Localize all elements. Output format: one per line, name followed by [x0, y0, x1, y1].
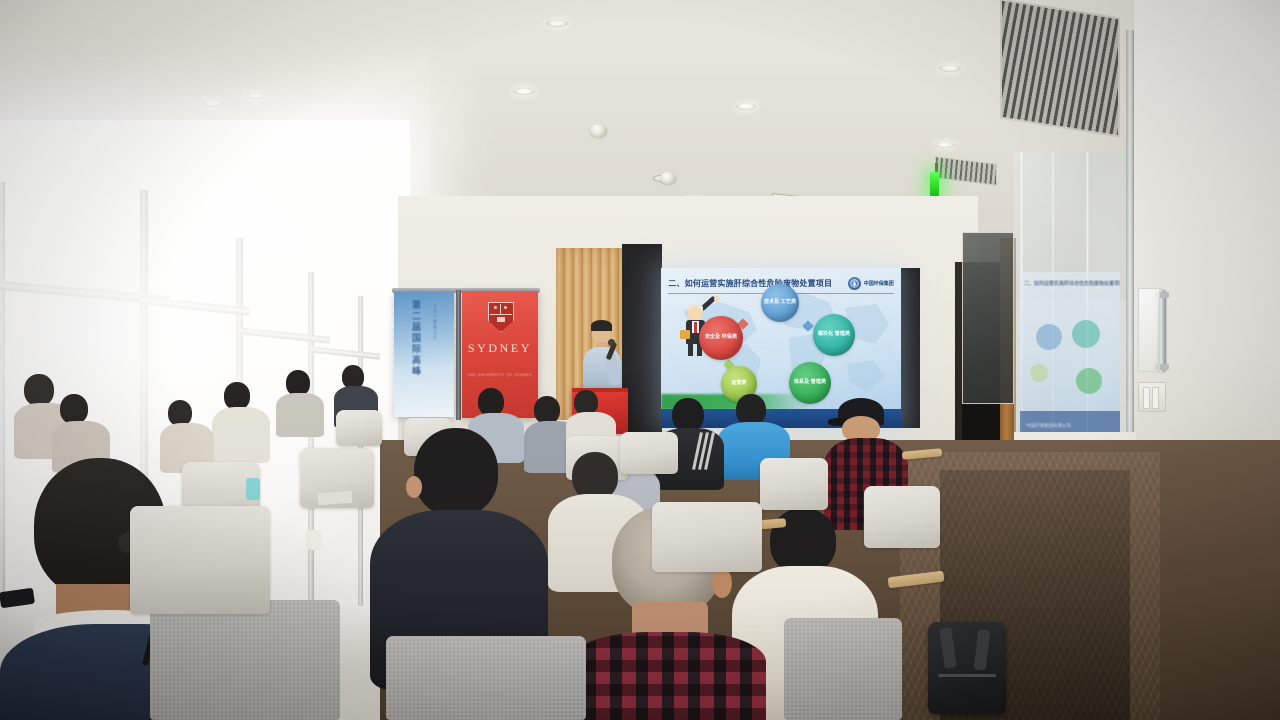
air-vent-grille — [1000, 0, 1120, 138]
window-transom — [310, 346, 380, 359]
window-transom — [140, 296, 250, 315]
water-bottle — [246, 478, 260, 500]
reflected-footer-text: 中国环保集团有限公司 — [1026, 423, 1071, 429]
recessed-downlight — [246, 93, 266, 99]
sydney-wordmark-wrap: SYDNEY — [462, 339, 538, 357]
crest-star — [494, 306, 497, 309]
reflected-slide-title: 二、如何运营实施肝综合性危险废物处置项目 — [1024, 280, 1120, 287]
mesh-back-seminar-chair[interactable] — [652, 502, 762, 572]
recessed-downlight — [202, 100, 224, 107]
blue-banner-sub-text: 环境与健康论坛 — [432, 304, 438, 340]
switch-key[interactable] — [1152, 387, 1159, 409]
mesh-back-seminar-chair[interactable] — [784, 618, 902, 720]
blue-banner: 第二届国际高峰 环境与健康论坛 — [394, 292, 454, 417]
recessed-downlight — [736, 103, 756, 110]
window-mullion — [308, 272, 314, 612]
slide-bubble-label: 体系及 管理类 — [794, 380, 826, 385]
torso — [570, 632, 766, 720]
cartoon-tie — [694, 322, 697, 333]
cartoon-leg — [688, 342, 693, 356]
sydney-subtext-wrap: THE UNIVERSITY OF SYDNEY — [462, 363, 538, 381]
audience-member — [52, 394, 108, 468]
backpack-strap — [974, 629, 991, 670]
sydney-wordmark: SYDNEY — [468, 341, 532, 355]
notebook — [318, 491, 353, 505]
ear — [406, 476, 422, 498]
slide-bubble-label: 运营类 — [731, 381, 746, 386]
slide-bubble: 模块化 管理类 — [813, 314, 855, 356]
blue-banner-main-text: 第二届国际高峰 — [410, 300, 423, 377]
head — [672, 398, 704, 432]
torso — [276, 393, 324, 437]
recessed-downlight — [939, 65, 961, 72]
reflected-bubble — [1076, 368, 1102, 394]
reflected-bubble — [1072, 320, 1100, 348]
wall-light-switch[interactable] — [1138, 382, 1166, 412]
wall-artwork — [962, 232, 1014, 404]
mesh-back-seminar-chair[interactable] — [130, 506, 270, 614]
ear — [712, 568, 732, 598]
audience-member — [276, 370, 324, 436]
screen-reflection: 二、如何运营实施肝综合性危险废物处置项目 中国环保集团有限公司 — [1020, 272, 1120, 434]
reflected-bubble — [1036, 324, 1062, 350]
backpack-strap — [939, 627, 956, 668]
crest-book — [497, 317, 505, 322]
org-logo-icon — [848, 277, 861, 290]
head — [60, 394, 88, 424]
recessed-downlight — [935, 142, 955, 148]
cartoon-hand — [714, 296, 720, 302]
org-logo-label: 中国环保集团 — [864, 280, 894, 287]
mesh-back-seminar-chair[interactable] — [386, 636, 586, 720]
door-signage — [1138, 288, 1160, 372]
microphone-head — [608, 339, 615, 346]
cartoon-head — [688, 307, 702, 321]
paper-cup — [306, 530, 322, 550]
backpack-zip — [938, 674, 996, 677]
slide-bubble-label: 模块化 管理类 — [818, 332, 850, 337]
head — [534, 396, 560, 424]
blue-banner-text: 第二届国际高峰 — [410, 300, 423, 405]
crest-star — [504, 306, 507, 309]
head — [224, 382, 250, 410]
head — [572, 452, 618, 500]
mesh-back-seminar-chair[interactable] — [760, 458, 828, 510]
university-crest — [488, 302, 514, 332]
head — [414, 428, 498, 516]
slide-bubble: 技术及 工艺类 — [761, 284, 799, 322]
mesh-back-seminar-chair[interactable] — [150, 600, 340, 720]
switch-key[interactable] — [1143, 387, 1150, 409]
blue-banner-subtext-wrap: 环境与健康论坛 — [432, 304, 438, 390]
audience-member — [212, 382, 268, 460]
backpack-on-floor — [928, 622, 1006, 714]
head — [24, 374, 54, 406]
recessed-downlight — [513, 88, 535, 95]
slide-bubble-label: 技术及 工艺类 — [764, 300, 796, 305]
slide-title: 二、如何运营实施肝综合性危险废物处置项目 — [668, 278, 832, 289]
window-transom — [240, 327, 330, 343]
recessed-downlight — [546, 20, 568, 27]
conference-room-photo: 二、如何运营实施肝综合性危险废物处置项目 中国环保集团 — [0, 0, 1280, 720]
crest-divider — [490, 314, 512, 315]
speaker-hair — [591, 320, 612, 331]
slide-bubble: 安全及 环保类 — [699, 316, 743, 360]
mesh-back-seminar-chair[interactable] — [864, 486, 940, 548]
smoke-detector — [660, 172, 676, 184]
torso — [212, 407, 270, 463]
smoke-detector — [590, 124, 607, 137]
banner-pole — [456, 290, 461, 420]
cartoon-briefcase — [680, 330, 690, 339]
crest-divider — [500, 304, 501, 314]
head — [478, 388, 504, 416]
slide-bubble-label: 安全及 环保类 — [705, 335, 737, 340]
sydney-sub-text: THE UNIVERSITY OF SYDNEY — [468, 373, 533, 377]
reflected-bubble — [1030, 364, 1048, 382]
